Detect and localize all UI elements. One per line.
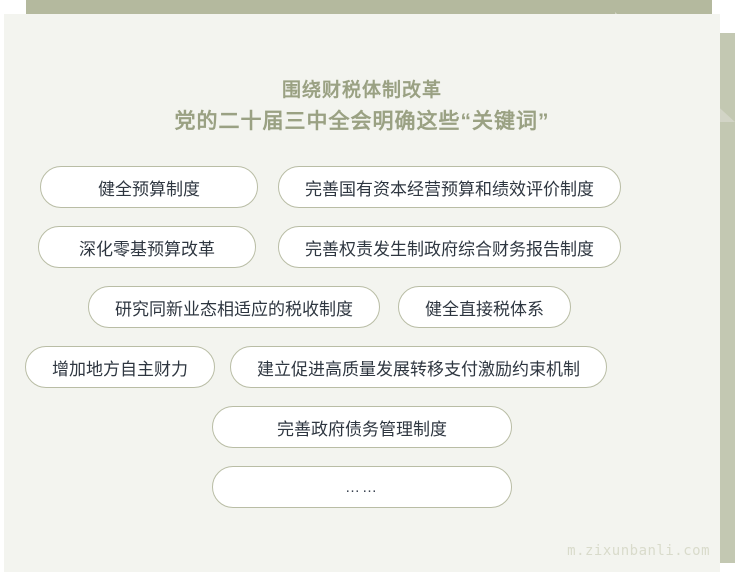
pill-row: 完善政府债务管理制度 (4, 406, 720, 448)
keyword-pill[interactable]: 完善政府债务管理制度 (212, 406, 512, 448)
pill-row: 研究同新业态相适应的税收制度 健全直接税体系 (4, 286, 720, 328)
pill-row: …… (4, 466, 720, 508)
keyword-pill[interactable]: 建立促进高质量发展转移支付激励约束机制 (230, 346, 607, 388)
keyword-pill[interactable]: 深化零基预算改革 (38, 226, 256, 268)
keyword-pill-list: 健全预算制度 完善国有资本经营预算和绩效评价制度 深化零基预算改革 完善权责发生… (4, 166, 720, 526)
keyword-pill[interactable]: 完善权责发生制政府综合财务报告制度 (278, 226, 621, 268)
title-line-1: 围绕财税体制改革 (4, 76, 720, 106)
content-card: 围绕财税体制改革 党的二十届三中全会明确这些“关键词” 健全预算制度 完善国有资… (4, 14, 720, 572)
pill-row: 增加地方自主财力 建立促进高质量发展转移支付激励约束机制 (4, 346, 720, 388)
title-line-2: 党的二十届三中全会明确这些“关键词” (4, 106, 720, 138)
keyword-pill[interactable]: 完善国有资本经营预算和绩效评价制度 (278, 166, 621, 208)
pill-row: 健全预算制度 完善国有资本经营预算和绩效评价制度 (4, 166, 720, 208)
keyword-pill[interactable]: 健全直接税体系 (398, 286, 571, 328)
keyword-pill-more[interactable]: …… (212, 466, 512, 508)
keyword-pill[interactable]: 增加地方自主财力 (25, 346, 215, 388)
keyword-pill[interactable]: 健全预算制度 (40, 166, 258, 208)
keyword-pill[interactable]: 研究同新业态相适应的税收制度 (88, 286, 380, 328)
pill-row: 深化零基预算改革 完善权责发生制政府综合财务报告制度 (4, 226, 720, 268)
page-title: 围绕财税体制改革 党的二十届三中全会明确这些“关键词” (4, 76, 720, 138)
infographic-canvas: 围绕财税体制改革 党的二十届三中全会明确这些“关键词” 健全预算制度 完善国有资… (0, 0, 735, 575)
source-watermark: m.zixunbanli.com (567, 543, 710, 559)
